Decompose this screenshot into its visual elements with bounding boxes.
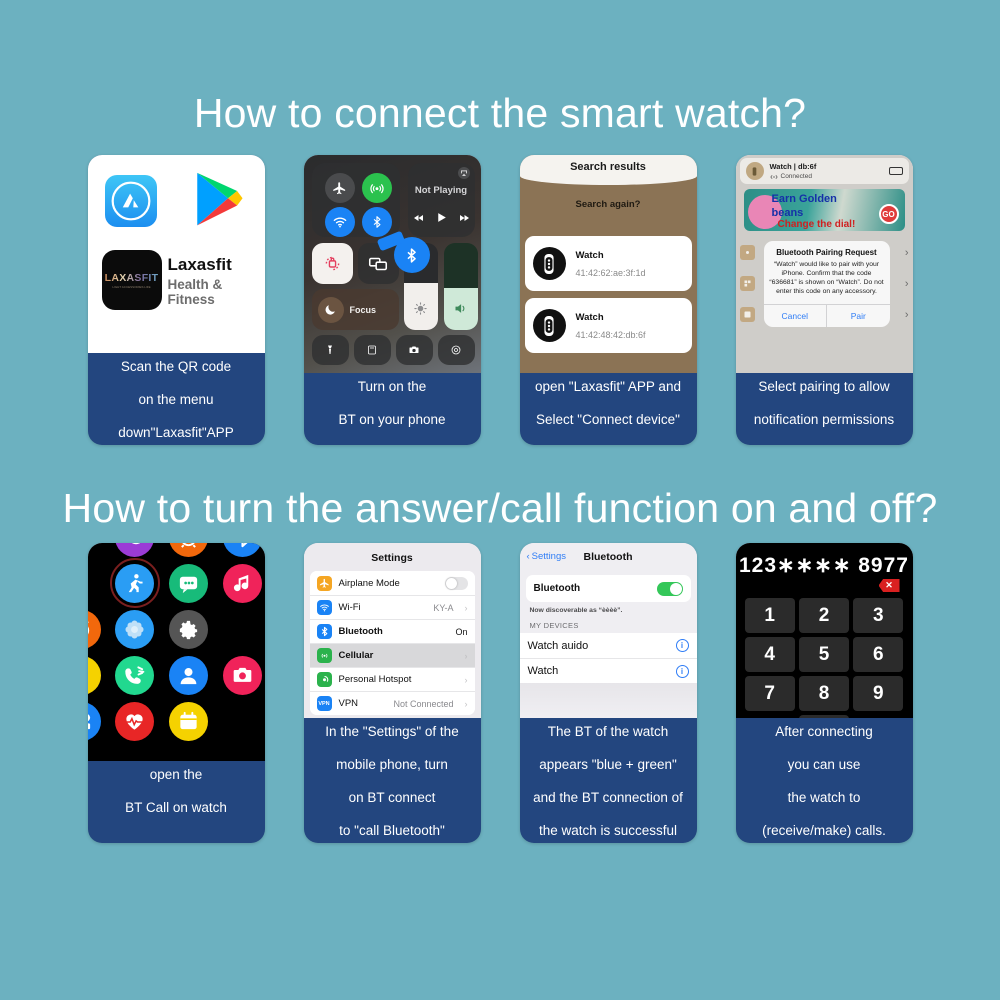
dialpad-key-3[interactable]: 3	[853, 598, 903, 633]
list-item[interactable]: Watch 41:42:62:ae:3f:1d	[525, 236, 692, 291]
settings-row-personal-hotspot[interactable]: Personal Hotspot›	[310, 667, 475, 691]
page-title: Bluetooth	[520, 551, 697, 563]
caption-line: Turn on the	[338, 379, 445, 396]
settings-row-bluetooth[interactable]: BluetoothOn	[310, 619, 475, 643]
card-ios-settings-screen: Settings Airplane ModeWi-FiKY-A›Bluetoot…	[304, 543, 481, 718]
banner-line-3: Change the dial!	[778, 219, 856, 230]
card-caption: Turn on the BT on your phone	[304, 373, 481, 445]
airplay-icon[interactable]	[458, 167, 470, 179]
settings-icon[interactable]	[169, 610, 208, 649]
focus-label: Focus	[350, 305, 377, 315]
settings-title: Settings	[304, 543, 481, 571]
bluetooth-icon	[317, 624, 332, 639]
card-app-stores: LAXASFIT LIGHT ACCESSORIES LIFE Laxasfit…	[88, 155, 265, 445]
delete-backspace-icon[interactable]: ✕	[879, 579, 900, 592]
caption-line: notification permissions	[754, 412, 894, 429]
page-title-first: How to connect the smart watch?	[0, 93, 1000, 134]
dialpad-panel: 123∗∗∗∗ 8977 ✕ 123456789+0	[736, 543, 913, 718]
connection-status-label: Connected	[781, 173, 812, 180]
row-label: Cellular	[339, 650, 374, 661]
dialpad-key-1[interactable]: 1	[745, 598, 795, 633]
fast-forward-icon[interactable]	[458, 212, 470, 224]
device-mac: 41:42:62:ae:3f:1d	[576, 268, 646, 278]
card-control-center: Not Playing	[304, 155, 481, 445]
card-caption: Scan the QR code on the menu down"Laxasf…	[88, 353, 265, 446]
rewind-icon[interactable]	[413, 212, 425, 224]
device-name: Watch	[576, 312, 646, 323]
app-store-icon[interactable]	[105, 175, 157, 227]
steps-row-one: LAXASFIT LIGHT ACCESSORIES LIFE Laxasfit…	[0, 155, 1000, 445]
list-item[interactable]: Watch 41:42:48:42:db:6f	[525, 298, 692, 353]
info-icon[interactable]: i	[676, 665, 689, 678]
phone-call-icon[interactable]	[853, 715, 903, 718]
card-watch-apps-screen	[88, 543, 265, 761]
device-title: Watch | db:6f	[770, 162, 817, 171]
settings-list: Airplane ModeWi-FiKY-A›BluetoothOnCellul…	[310, 571, 475, 715]
device-header: Watch | db:6f Connected	[740, 158, 909, 184]
banner-line-2: beans	[772, 207, 804, 219]
caption-line: BT on your phone	[338, 412, 445, 429]
weather-icon[interactable]	[115, 543, 154, 557]
caption-line: you can use	[762, 757, 886, 774]
card-caption: After connecting you can use the watch t…	[736, 718, 913, 844]
highlight-ring	[110, 558, 160, 608]
dial-icon	[740, 276, 755, 291]
bluetooth-toggle-row[interactable]: Bluetooth	[526, 575, 691, 602]
dialpad-key-6[interactable]: 6	[853, 637, 903, 672]
search-again-button[interactable]: Search again?	[520, 199, 697, 210]
chevron-right-icon: ›	[465, 603, 468, 613]
link-icon	[770, 173, 778, 181]
contacts-icon[interactable]	[169, 656, 208, 695]
row-value: KY-A	[433, 603, 453, 613]
caption-line: The BT of the watch	[533, 724, 683, 741]
card-pairing-request-screen: Watch | db:6f Connected Earn Golden bean…	[736, 155, 913, 373]
apps-icon	[740, 307, 755, 322]
dialpad-key-5[interactable]: 5	[799, 637, 849, 672]
caption-line: and the BT connection of	[533, 790, 683, 807]
card-pairing-request: Watch | db:6f Connected Earn Golden bean…	[736, 155, 913, 445]
card-ios-settings: Settings Airplane ModeWi-FiKY-A›Bluetoot…	[304, 543, 481, 843]
card-watch-apps: open the BT Call on watch	[88, 543, 265, 843]
camera-icon[interactable]	[223, 656, 262, 695]
cancel-button[interactable]: Cancel	[764, 305, 828, 327]
media-module: Not Playing	[408, 163, 475, 237]
watch-app-grid	[88, 543, 265, 761]
card-bluetooth-page-screen: ‹ Settings Bluetooth Bluetooth Now disco…	[520, 543, 697, 718]
device-name: Watch auido	[528, 640, 589, 652]
settings-row-cellular[interactable]: Cellular›	[310, 643, 475, 667]
card-caption: open the BT Call on watch	[88, 761, 265, 843]
steps-row-two: open the BT Call on watch Settings Airpl…	[0, 543, 1000, 843]
search-results-panel: Search results Search again? Watch 41:42…	[520, 155, 697, 373]
cellular-icon	[317, 648, 332, 663]
media-status: Not Playing	[408, 185, 475, 196]
stopwatch-icon[interactable]	[88, 610, 102, 649]
flashlight-icon[interactable]	[312, 335, 349, 365]
bluetooth-pairing-dialog: Bluetooth Pairing Request “Watch” would …	[764, 241, 890, 327]
caption-line: the watch to	[762, 790, 886, 807]
caption-line: the watch is successful	[533, 823, 683, 840]
caption-line: open "Laxasfit" APP and	[535, 379, 681, 396]
card-app-stores-screen: LAXASFIT LIGHT ACCESSORIES LIFE Laxasfit…	[88, 155, 265, 353]
volume-icon	[453, 301, 468, 316]
settings-row-vpn[interactable]: VPNVPNNot Connected›	[310, 691, 475, 715]
row-label: Airplane Mode	[339, 578, 400, 589]
dialpad-key-8[interactable]: 8	[799, 676, 849, 711]
row-value: Not Connected	[393, 699, 453, 709]
watch-device-icon	[533, 247, 566, 280]
caption-line: on BT connect	[325, 790, 458, 807]
page-title-second: How to turn the answer/call function on …	[0, 488, 1000, 529]
bluetooth-label: Bluetooth	[534, 583, 581, 594]
control-center-panel: Not Playing	[304, 155, 481, 373]
promo-banner[interactable]: Earn Golden beans Change the dial! GO	[744, 189, 905, 231]
app-category: Health & Fitness	[168, 277, 265, 307]
play-icon[interactable]	[435, 211, 448, 224]
caption-line: down"Laxasfit"APP	[118, 425, 233, 442]
dial-style-icon[interactable]	[115, 610, 154, 649]
calendar-icon[interactable]	[169, 702, 208, 741]
dialpad-key-0[interactable]: 0	[799, 715, 849, 718]
card-dialpad: 123∗∗∗∗ 8977 ✕ 123456789+0 After connect…	[736, 543, 913, 843]
dialog-actions: Cancel Pair	[764, 304, 890, 327]
poster-root: How to connect the smart watch? How to t…	[0, 0, 1000, 1000]
banner-line-1: Earn Golden	[772, 193, 837, 205]
call-log-icon[interactable]	[115, 656, 154, 695]
settings-row-wi-fi[interactable]: Wi-FiKY-A›	[310, 595, 475, 619]
laxasfit-logo-subtext: LIGHT ACCESSORIES LIFE	[112, 285, 150, 289]
chevron-right-icon: ›	[465, 651, 468, 661]
pair-button[interactable]: Pair	[827, 305, 890, 327]
card-caption: In the "Settings" of the mobile phone, t…	[304, 718, 481, 844]
caption-line: Scan the QR code	[118, 359, 233, 376]
airplane-toggle[interactable]	[445, 577, 468, 590]
device-list: Watch auido i Watch i	[520, 633, 697, 683]
chevron-right-icon: ›	[465, 699, 468, 709]
caption-line: open the	[125, 767, 227, 784]
dialog-body: “Watch” would like to pair with your iPh…	[764, 260, 890, 304]
device-mac: 41:42:48:42:db:6f	[576, 330, 646, 340]
row-label: Wi-Fi	[339, 602, 361, 613]
settings-panel: Settings Airplane ModeWi-FiKY-A›Bluetoot…	[304, 543, 481, 718]
info-icon[interactable]: i	[676, 639, 689, 652]
dialpad-key-4[interactable]: 4	[745, 637, 795, 672]
dialpad-key-2[interactable]: 2	[799, 598, 849, 633]
bluetooth-toggle[interactable]	[657, 582, 683, 596]
card-bluetooth-page: ‹ Settings Bluetooth Bluetooth Now disco…	[520, 543, 697, 843]
caption-line: on the menu	[118, 392, 233, 409]
section-header: MY DEVICES	[520, 614, 697, 633]
volume-slider[interactable]	[444, 243, 478, 330]
device-name: Watch	[528, 665, 559, 677]
wifi-icon[interactable]	[325, 207, 355, 237]
chevron-right-icon: ›	[905, 247, 909, 259]
banner-go-button[interactable]: GO	[879, 204, 899, 224]
airplane-icon	[317, 576, 332, 591]
settings-row-airplane-mode[interactable]: Airplane Mode	[310, 571, 475, 595]
bluetooth-icon[interactable]	[223, 543, 262, 557]
caption-line: to "call Bluetooth"	[325, 823, 458, 840]
navigation-bar: ‹ Settings Bluetooth	[520, 543, 697, 569]
pairing-panel: Watch | db:6f Connected Earn Golden bean…	[736, 155, 913, 373]
card-caption: open "Laxasfit" APP and Select "Connect …	[520, 373, 697, 445]
chevron-right-icon: ›	[905, 309, 909, 321]
list-item[interactable]: Watch i	[520, 658, 697, 683]
dialpad-key-7[interactable]: 7	[745, 676, 795, 711]
watch-device-icon	[533, 309, 566, 342]
google-play-icon[interactable]	[191, 171, 247, 229]
vpn-icon: VPN	[317, 696, 332, 711]
discoverable-note: Now discoverable as “èèèè”.	[520, 602, 697, 614]
card-search-results: Search results Search again? Watch 41:42…	[520, 155, 697, 445]
device-name: Watch	[576, 250, 646, 261]
moon-icon	[318, 297, 344, 323]
messages-icon[interactable]	[169, 564, 208, 603]
caption-line: mobile phone, turn	[325, 757, 458, 774]
music-icon[interactable]	[223, 564, 262, 603]
watch-avatar-icon	[746, 162, 764, 180]
media-controls	[408, 211, 475, 224]
card-caption: The BT of the watch appears "blue + gree…	[520, 718, 697, 844]
bluetooth-highlight-icon	[394, 237, 430, 273]
control-center-bottom-row	[312, 335, 475, 365]
chevron-right-icon: ›	[465, 675, 468, 685]
calculator-icon[interactable]	[354, 335, 391, 365]
caption-line: Select pairing to allow	[754, 379, 894, 396]
bluetooth-panel: ‹ Settings Bluetooth Bluetooth Now disco…	[520, 543, 697, 718]
card-search-results-screen: Search results Search again? Watch 41:42…	[520, 155, 697, 373]
alarm-icon[interactable]	[169, 543, 208, 557]
row-value: On	[455, 627, 467, 637]
rotation-lock-icon[interactable]	[312, 243, 353, 284]
laxasfit-app-logo: LAXASFIT LIGHT ACCESSORIES LIFE	[102, 250, 162, 310]
laxasfit-logo-text: LAXASFIT	[105, 272, 159, 284]
focus-module[interactable]: Focus	[312, 289, 399, 330]
chevron-right-icon: ›	[905, 278, 909, 290]
cellular-icon[interactable]	[362, 173, 392, 203]
wifi-icon	[317, 600, 332, 615]
brightness-icon	[413, 301, 428, 316]
hotspot-icon	[317, 672, 332, 687]
search-results-title: Search results	[520, 161, 697, 173]
qr-scan-icon[interactable]	[438, 335, 475, 365]
caption-line: After connecting	[762, 724, 886, 741]
battery-icon	[889, 167, 903, 175]
bluetooth-icon[interactable]	[362, 207, 392, 237]
dialog-title: Bluetooth Pairing Request	[764, 241, 890, 260]
caption-line: In the "Settings" of the	[325, 724, 458, 741]
list-item[interactable]: Watch auido i	[520, 633, 697, 658]
caption-line: BT Call on watch	[125, 800, 227, 817]
heart-rate-icon[interactable]	[115, 702, 154, 741]
row-label: VPN	[339, 698, 359, 709]
row-label: Bluetooth	[339, 626, 383, 637]
gear-icon	[740, 245, 755, 260]
row-label: Personal Hotspot	[339, 674, 412, 685]
camera-icon[interactable]	[396, 335, 433, 365]
caption-line: appears "blue + green"	[533, 757, 683, 774]
app-name: Laxasfit	[168, 255, 232, 275]
connection-status: Connected	[770, 173, 817, 181]
pedometer-icon[interactable]	[88, 656, 102, 695]
caption-line: Select "Connect device"	[535, 412, 681, 429]
airplane-icon[interactable]	[325, 173, 355, 203]
card-caption: Select pairing to allow notification per…	[736, 373, 913, 445]
dialpad-key-9[interactable]: 9	[853, 676, 903, 711]
dialpad-keys: 123456789+0	[745, 598, 904, 718]
menu-grid-icon[interactable]	[88, 702, 102, 741]
card-dialpad-screen: 123∗∗∗∗ 8977 ✕ 123456789+0	[736, 543, 913, 718]
connectivity-module	[312, 163, 400, 237]
screen-mirroring-icon[interactable]	[358, 243, 399, 284]
dialed-number: 123∗∗∗∗ 8977	[736, 543, 913, 578]
dialpad-key-plus[interactable]: +	[745, 715, 795, 718]
caption-line: (receive/make) calls.	[762, 823, 886, 840]
card-control-center-screen: Not Playing	[304, 155, 481, 373]
